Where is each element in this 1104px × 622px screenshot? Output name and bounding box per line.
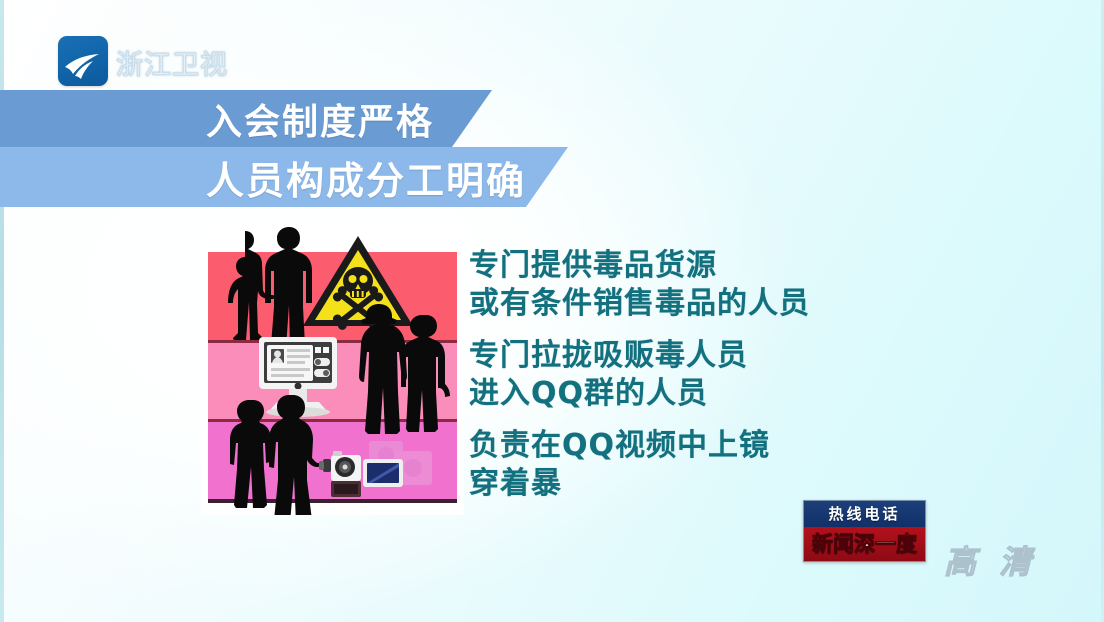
channel-logo-text: 浙江卫视 — [116, 43, 228, 82]
headline-bar-primary: 入会制度严格 — [0, 90, 492, 147]
program-name-label: 新闻深一度 — [812, 532, 917, 556]
copy-line: 专门拉拢吸贩毒人员 — [469, 337, 889, 375]
copy-block-1: 专门提供毒品货源 或有条件销售毒品的人员 — [469, 247, 889, 324]
body-copy: 专门提供毒品货源 或有条件销售毒品的人员 专门拉拢吸贩毒人员 进入QQ群的人员 … — [469, 247, 889, 516]
headline-line-2: 人员构成分工明确 — [206, 150, 526, 205]
drug-warning-illustration — [201, 219, 464, 515]
hotline-badge: 热线电话 新闻深一度 — [803, 500, 926, 562]
headline-line-1: 入会制度严格 — [206, 93, 434, 145]
hotline-badge-top: 热线电话 — [804, 501, 925, 527]
hd-watermark: 高 清 — [944, 537, 1037, 583]
channel-logo: 浙江卫视 — [58, 36, 228, 86]
copy-line: 专门提供毒品货源 — [469, 247, 889, 285]
copy-block-2: 专门拉拢吸贩毒人员 进入QQ群的人员 — [469, 337, 889, 414]
headline-bar-secondary: 人员构成分工明确 — [0, 147, 568, 207]
copy-block-3: 负责在QQ视频中上镜 穿着暴 — [469, 427, 889, 504]
copy-line: 进入QQ群的人员 — [469, 375, 889, 413]
copy-line: 或有条件销售毒品的人员 — [469, 285, 889, 323]
hotline-badge-bottom: 新闻深一度 — [804, 527, 925, 561]
copy-line: 穿着暴 — [469, 465, 889, 503]
copy-line: 负责在QQ视频中上镜 — [469, 427, 889, 465]
hotline-label: 热线电话 — [828, 505, 900, 523]
broadcast-frame: 浙江卫视 入会制度严格 人员构成分工明确 — [0, 0, 1104, 622]
zhejiang-tv-logo-icon — [58, 36, 108, 86]
